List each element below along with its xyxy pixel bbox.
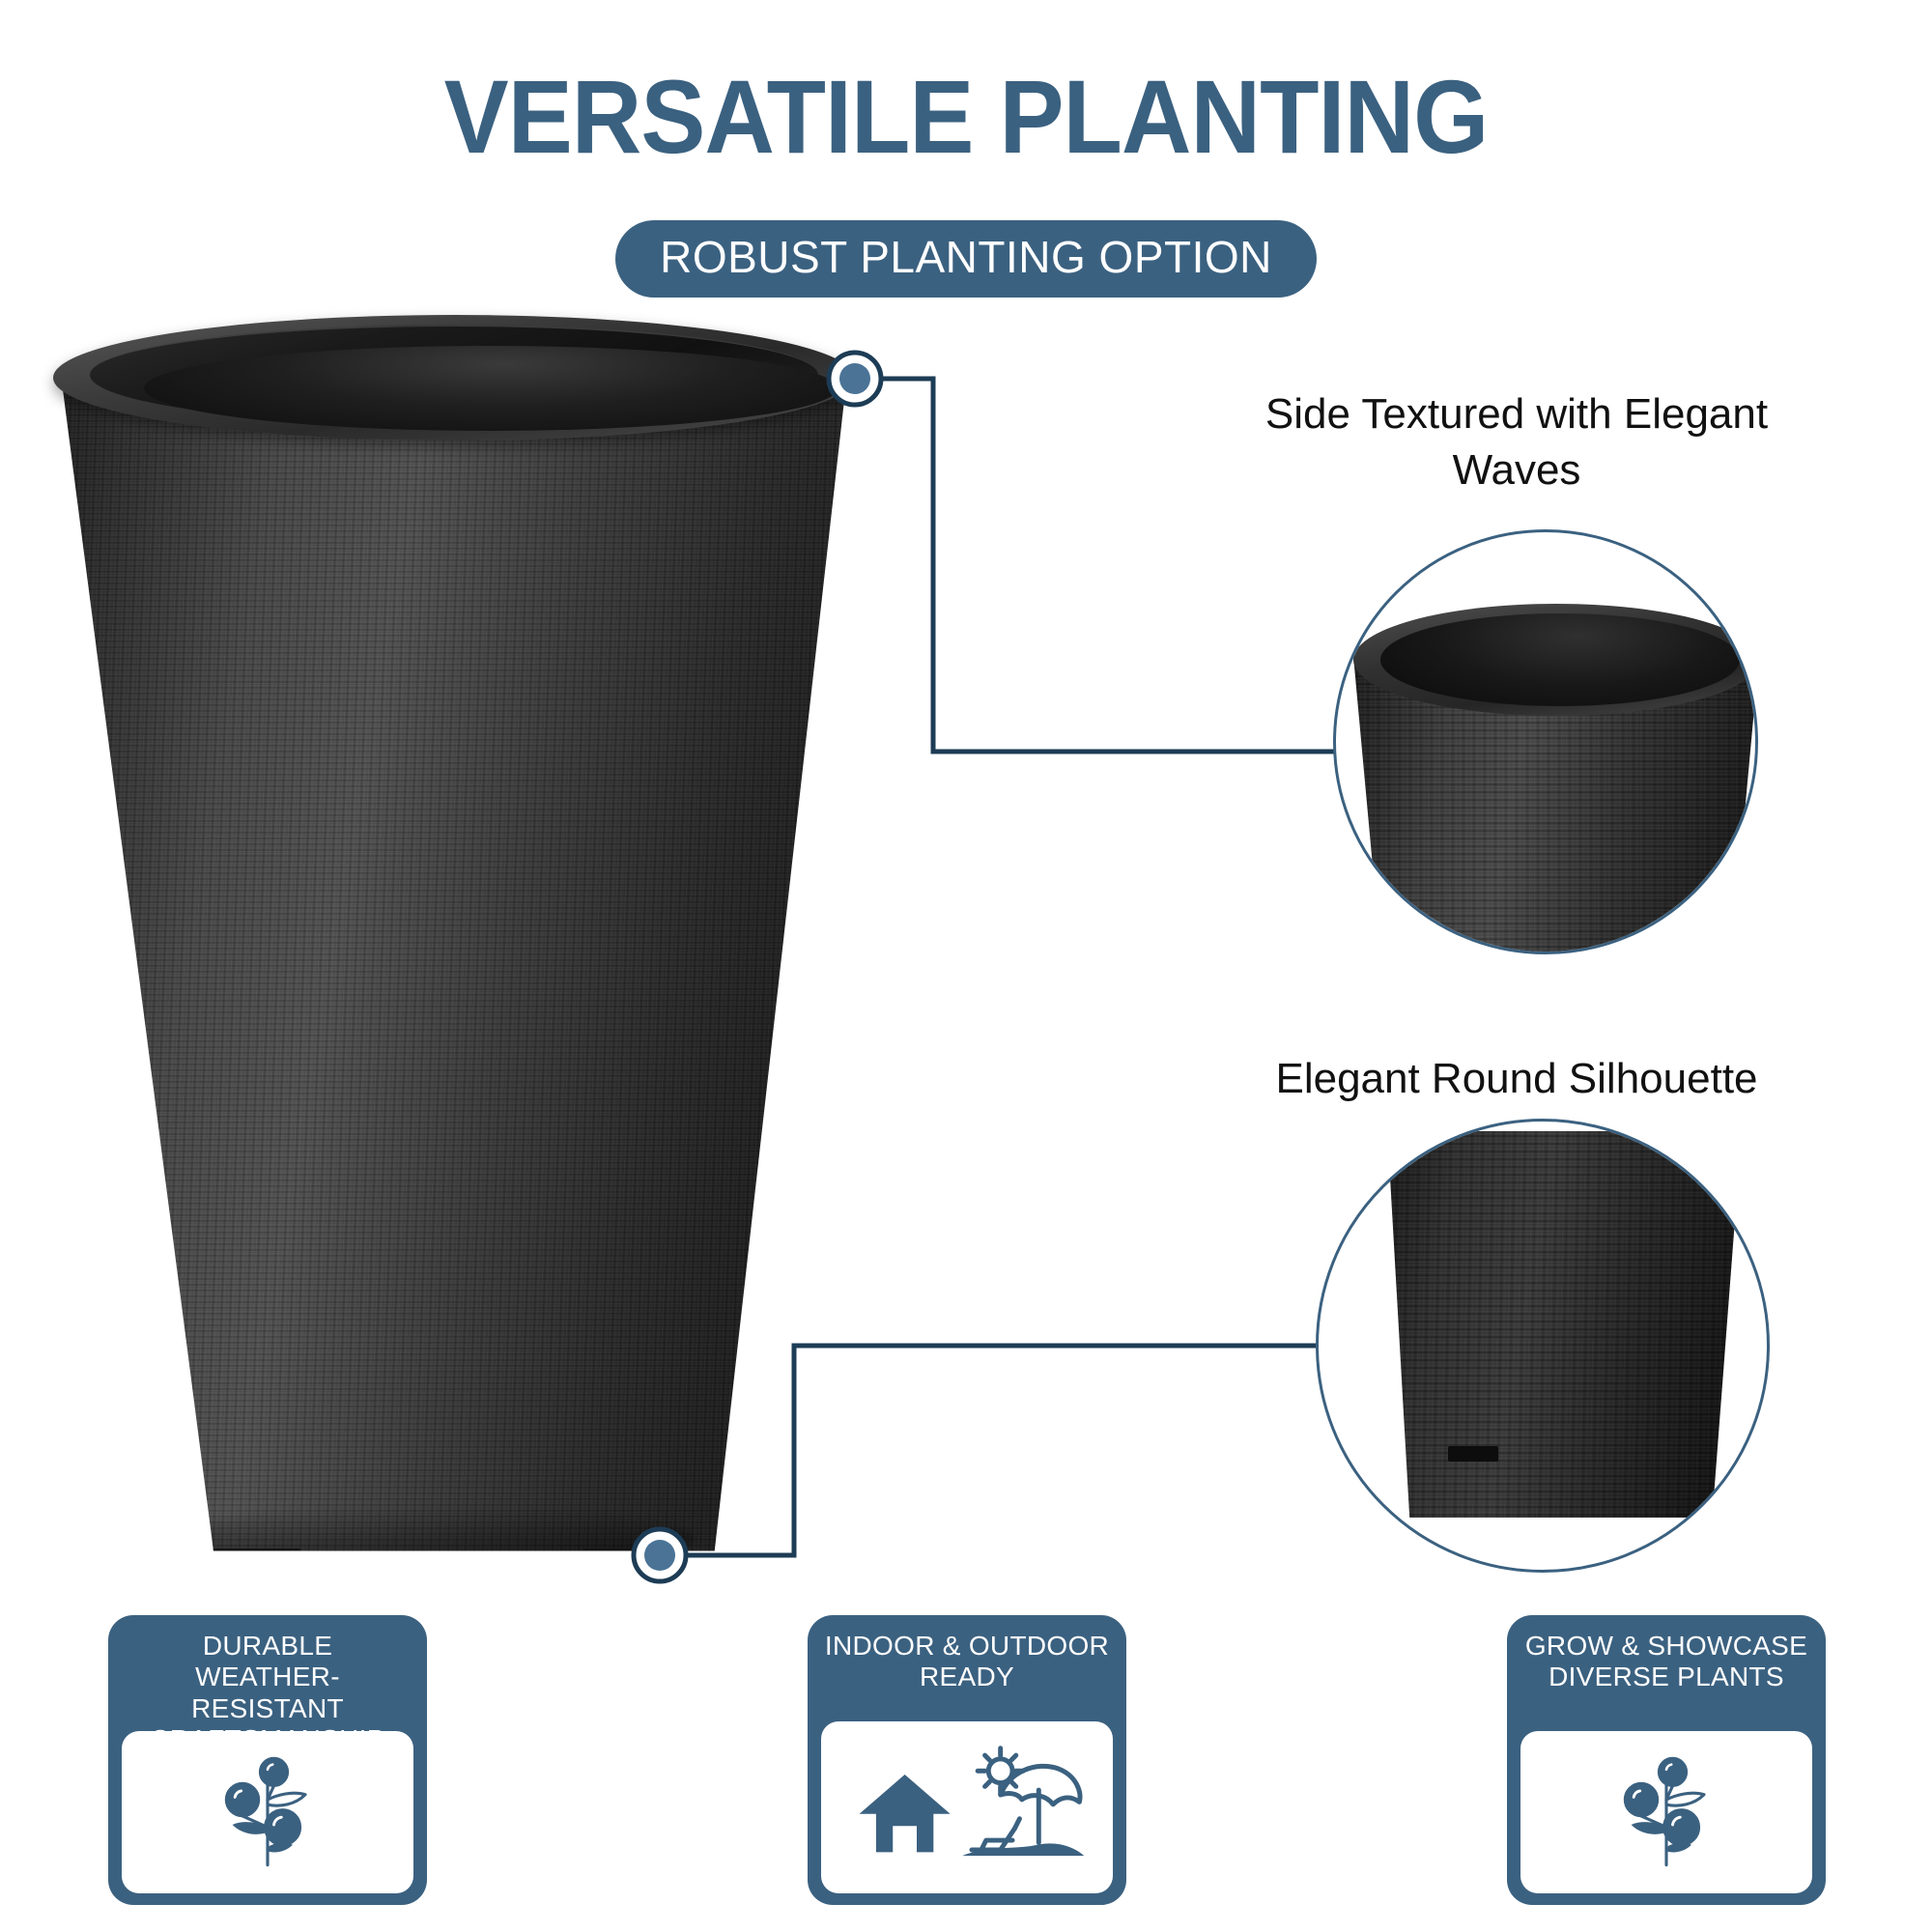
callout-label-round-silhouette: Elegant Round Silhouette (1207, 1051, 1826, 1107)
feature-card-grow-showcase[interactable]: GROW & SHOWCASEDIVERSE PLANTS (1507, 1615, 1826, 1905)
callout-label-side-texture: Side Textured with Elegant Waves (1207, 386, 1826, 498)
closeup-rim-inner (1380, 613, 1740, 706)
detail-circle-round-silhouette (1316, 1119, 1770, 1573)
feature-card-icon-box (122, 1731, 413, 1893)
feature-card-icon-box (821, 1721, 1113, 1893)
sun-icon (978, 1748, 1023, 1794)
house-icon (860, 1775, 951, 1852)
lounge-chair-icon (972, 1819, 1020, 1850)
feature-card-icon-box (1520, 1731, 1812, 1893)
anchor-dot-icon-bottom (634, 1529, 686, 1581)
feature-card-title: GROW & SHOWCASEDIVERSE PLANTS (1517, 1631, 1816, 1693)
feature-card-indoor-outdoor[interactable]: INDOOR & OUTDOORREADY (808, 1615, 1126, 1905)
house-sun-beach-icon (846, 1745, 1088, 1870)
closeup-foot (1448, 1446, 1498, 1462)
connector-line-bottom (676, 1346, 1321, 1555)
feature-card-durable[interactable]: DURABLEWEATHER-RESISTANTCRAFTSMANSHIP (108, 1615, 427, 1905)
detail-circle-side-texture (1333, 529, 1758, 954)
anchor-dot-icon-top (829, 353, 881, 405)
feature-card-row: DURABLEWEATHER-RESISTANTCRAFTSMANSHIP (0, 1615, 1932, 1924)
berry-branch-icon (1604, 1749, 1729, 1875)
feature-card-title: INDOOR & OUTDOORREADY (817, 1631, 1117, 1693)
infographic-canvas: VERSATILE PLANTING ROBUST PLANTING OPTIO… (0, 0, 1932, 1932)
closeup-body-silhouette (1373, 1131, 1742, 1518)
berry-branch-icon (205, 1749, 330, 1875)
